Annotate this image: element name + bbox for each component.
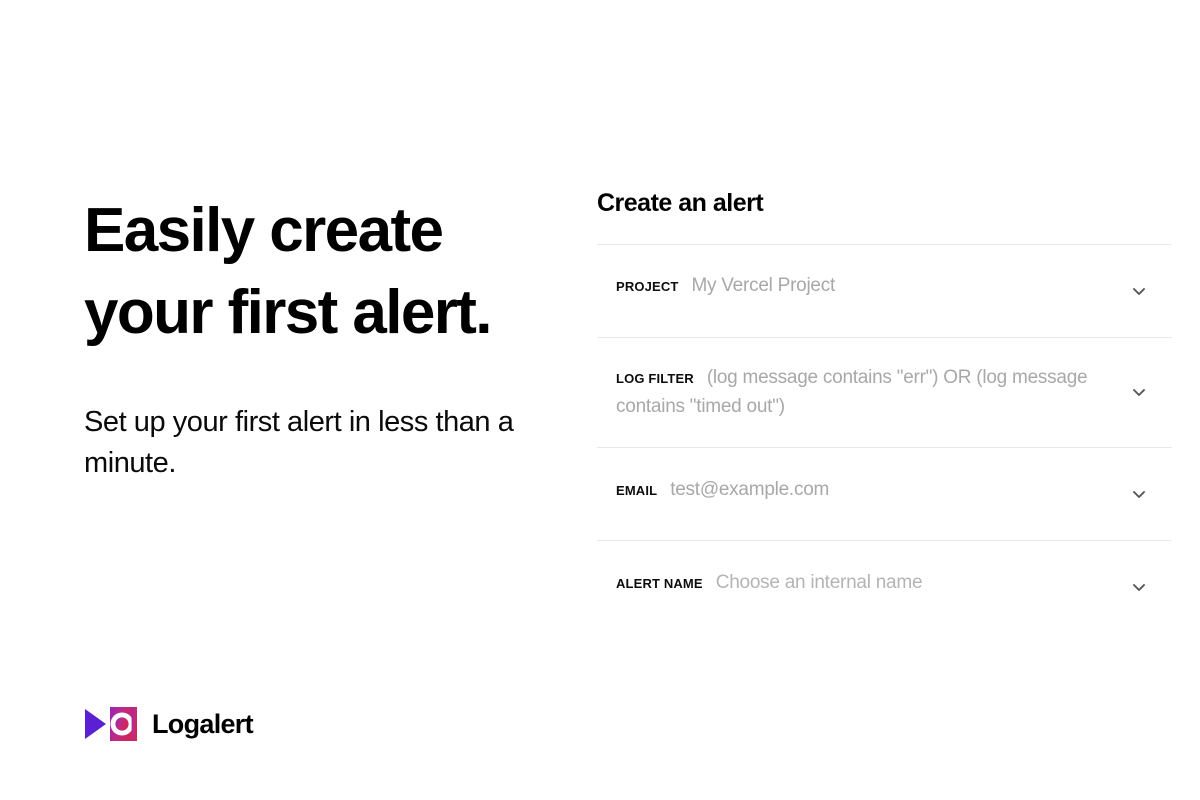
field-value-alert-name: Choose an internal name (716, 572, 923, 593)
field-row-email[interactable]: EMAILtest@example.com (597, 448, 1172, 540)
chevron-down-icon[interactable] (1130, 578, 1148, 596)
field-label-email: EMAIL (616, 483, 657, 498)
chevron-down-icon[interactable] (1130, 383, 1148, 401)
field-row-alert-name[interactable]: ALERT NAMEChoose an internal name (597, 541, 1172, 633)
chevron-down-icon[interactable] (1130, 485, 1148, 503)
brand-logo[interactable]: Logalert (84, 707, 253, 741)
create-alert-form: Create an alert PROJECTMy Vercel Project… (597, 188, 1172, 633)
chevron-down-icon[interactable] (1130, 282, 1148, 300)
brand-wordmark: Logalert (152, 711, 253, 738)
field-content: ALERT NAMEChoose an internal name (616, 568, 1112, 597)
landing-page: Easily create your first alert. Set up y… (0, 0, 1200, 800)
field-row-log-filter[interactable]: LOG FILTER(log message contains "err") O… (597, 338, 1172, 447)
field-content: EMAILtest@example.com (616, 475, 1112, 504)
hero-subtitle: Set up your first alert in less than a m… (84, 402, 554, 484)
page-title: Easily create your first alert. (84, 190, 564, 354)
field-content: PROJECTMy Vercel Project (616, 271, 1112, 300)
field-value-project: My Vercel Project (691, 275, 835, 296)
hero-section: Easily create your first alert. Set up y… (84, 190, 564, 484)
field-content: LOG FILTER(log message contains "err") O… (616, 363, 1112, 422)
form-heading: Create an alert (597, 188, 1172, 218)
field-row-project[interactable]: PROJECTMy Vercel Project (597, 245, 1172, 337)
field-label-log-filter: LOG FILTER (616, 371, 694, 386)
field-label-project: PROJECT (616, 279, 678, 294)
logalert-logo-icon (84, 707, 138, 741)
field-value-email: test@example.com (670, 479, 829, 500)
field-label-alert-name: ALERT NAME (616, 576, 703, 591)
